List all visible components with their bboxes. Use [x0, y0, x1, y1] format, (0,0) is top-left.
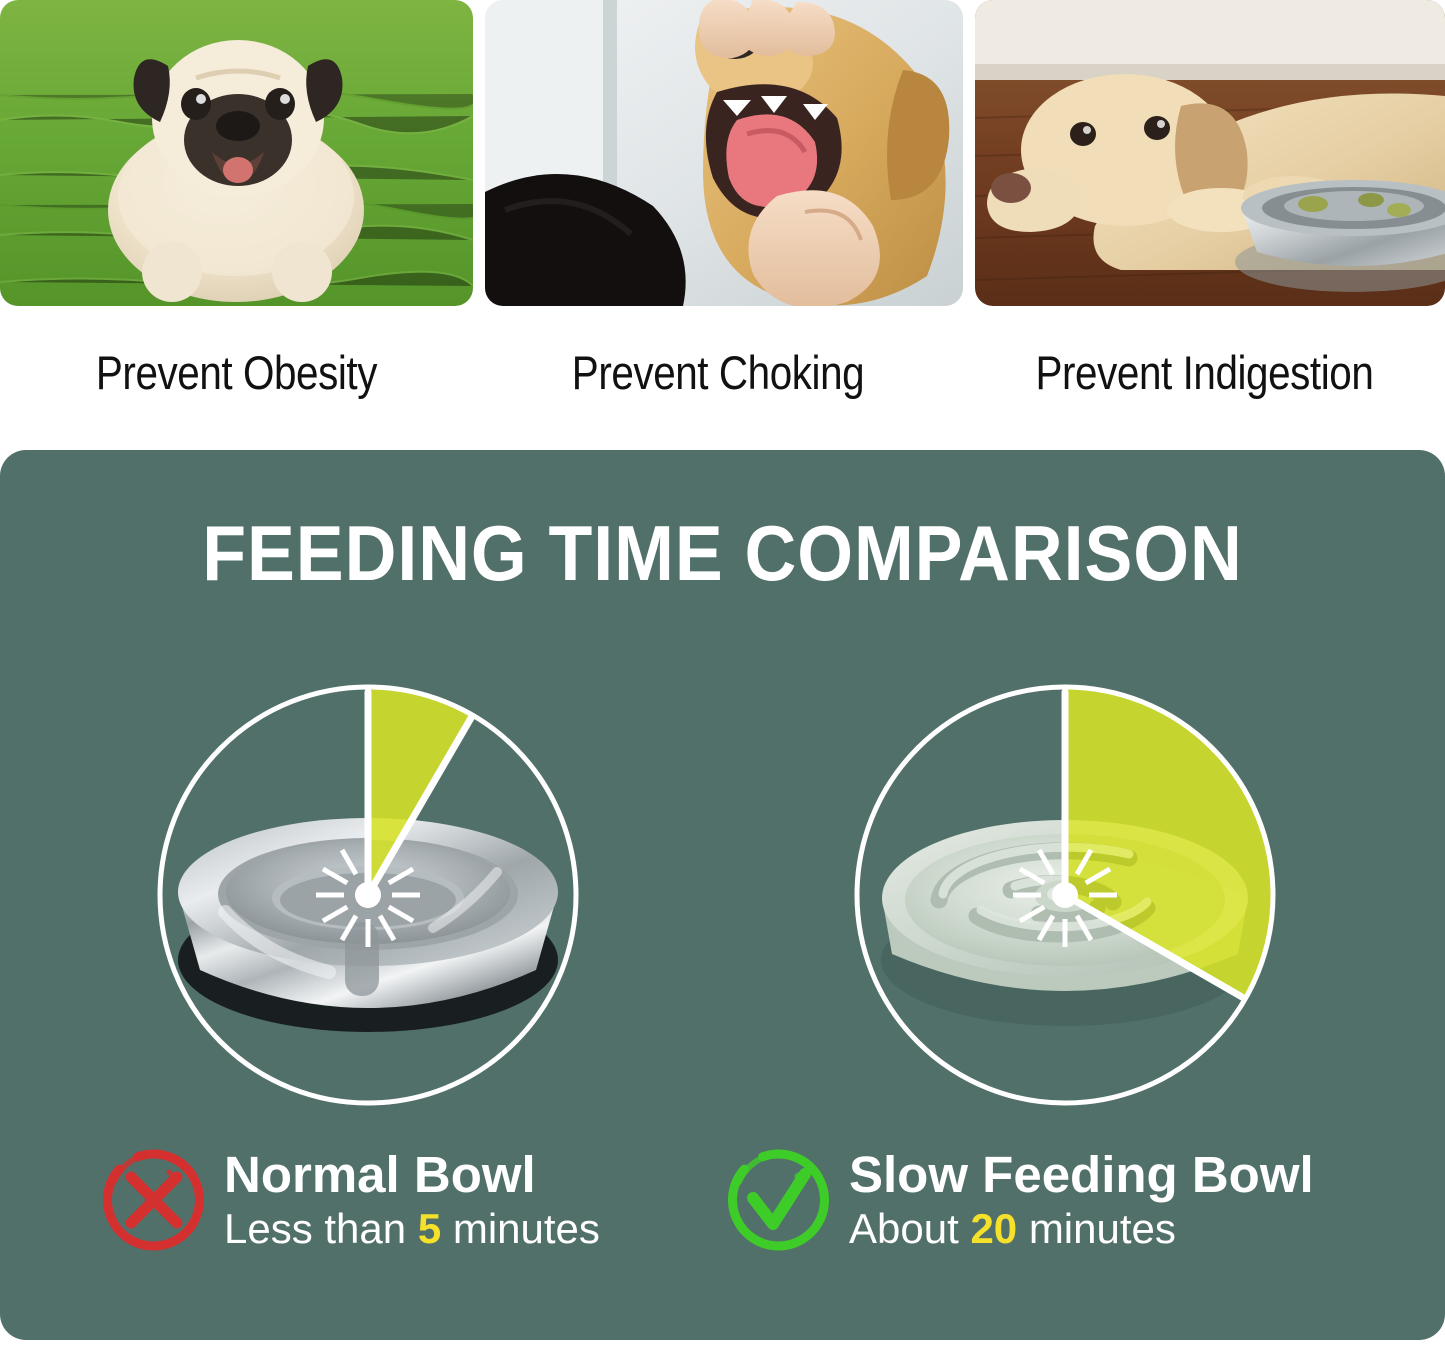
result-sub-number: 5 — [418, 1205, 441, 1252]
result-slow-feeding-bowl: Slow Feeding Bowl About 20 minutes — [725, 1130, 1314, 1270]
result-text-group: Normal Bowl Less than 5 minutes — [224, 1148, 600, 1251]
feature-caption-label: Prevent Indigestion — [1035, 345, 1373, 400]
result-subtitle: About 20 minutes — [849, 1205, 1314, 1252]
clock-normal-bowl — [133, 660, 603, 1130]
cross-circle-icon — [100, 1146, 208, 1254]
clock-center-hub — [355, 882, 381, 908]
result-sub-suffix: minutes — [441, 1205, 600, 1252]
feature-photo-strip — [0, 0, 1445, 306]
result-text-group: Slow Feeding Bowl About 20 minutes — [849, 1148, 1314, 1251]
result-sub-number: 20 — [970, 1205, 1017, 1252]
feature-caption-label: Prevent Choking — [572, 345, 864, 400]
result-sub-prefix: About — [849, 1205, 970, 1252]
result-title: Slow Feeding Bowl — [849, 1148, 1314, 1202]
result-sub-suffix: minutes — [1017, 1205, 1176, 1252]
feature-caption-prevent-indigestion: Prevent Indigestion — [963, 306, 1445, 438]
feature-photo-prevent-choking — [485, 0, 963, 306]
feature-caption-label: Prevent Obesity — [96, 345, 377, 400]
person-checking-dog-mouth-image — [485, 0, 963, 306]
clock-slow-feeding-bowl — [830, 660, 1300, 1130]
feature-caption-row: Prevent Obesity Prevent Choking Prevent … — [0, 306, 1445, 438]
clock-center-hub — [1052, 882, 1078, 908]
result-subtitle: Less than 5 minutes — [224, 1205, 600, 1252]
feature-photo-prevent-obesity — [0, 0, 473, 306]
clock-normal-bowl-graphic — [133, 660, 603, 1130]
check-circle-icon — [725, 1146, 833, 1254]
overweight-pug-on-grass-image — [0, 0, 473, 306]
result-title: Normal Bowl — [224, 1148, 600, 1202]
result-sub-prefix: Less than — [224, 1205, 418, 1252]
feeding-time-comparison-panel: FEEDING TIME COMPARISON — [0, 450, 1445, 1340]
feature-caption-prevent-choking: Prevent Choking — [473, 306, 963, 438]
feature-photo-prevent-indigestion — [975, 0, 1445, 306]
clock-slow-feeding-bowl-graphic — [830, 660, 1300, 1130]
page-title: FEEDING TIME COMPARISON — [58, 508, 1387, 599]
labrador-lying-next-to-bowl-image — [975, 0, 1445, 306]
result-normal-bowl: Normal Bowl Less than 5 minutes — [100, 1130, 600, 1270]
feature-caption-prevent-obesity: Prevent Obesity — [0, 306, 473, 438]
